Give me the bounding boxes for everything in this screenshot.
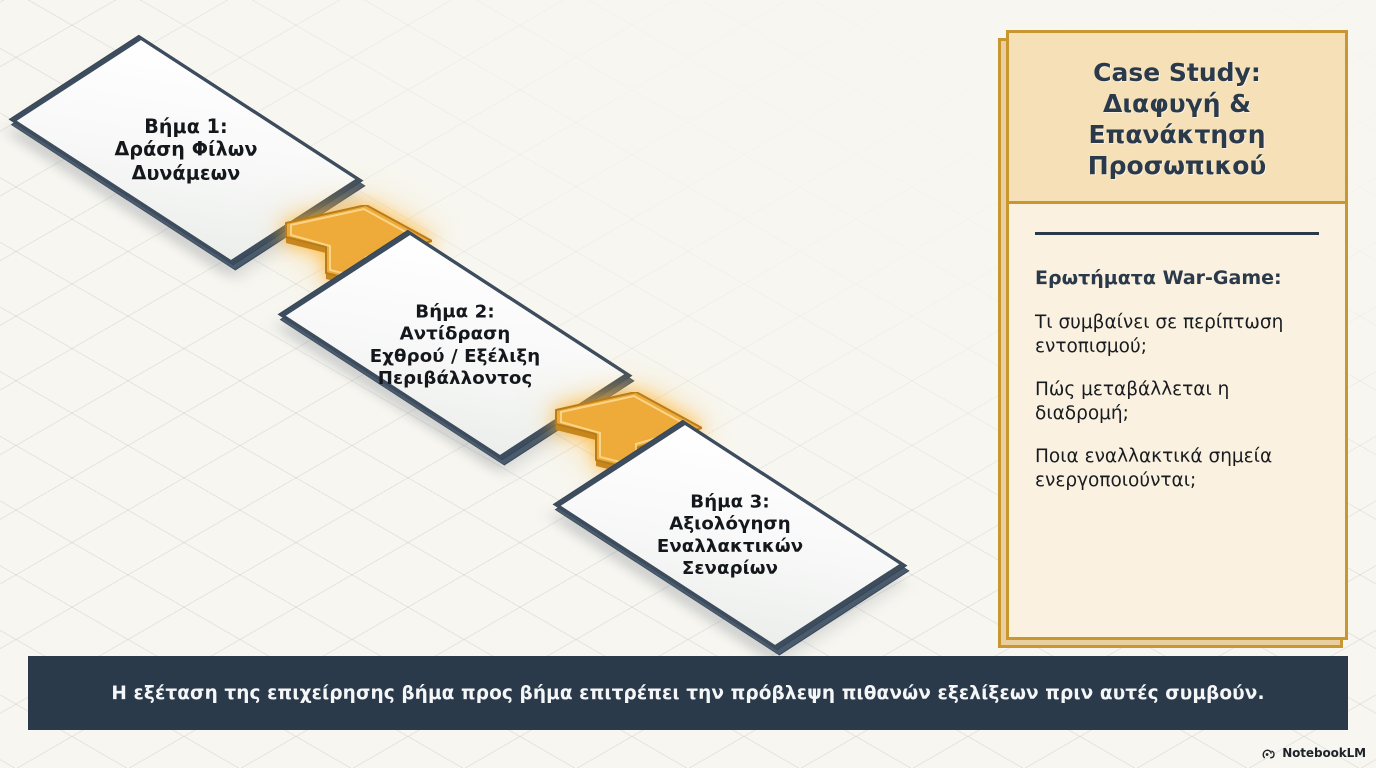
war-game-question-item: Τι συμβαίνει σε περίπτωση εντοπισμού; (1035, 311, 1319, 360)
war-game-question-item: Ποια εναλλακτικά σημεία ενεργοποιούνται; (1035, 445, 1319, 494)
bottom-summary-text: Η εξέταση της επιχείρησης βήμα προς βήμα… (111, 683, 1264, 704)
notebooklm-icon (1262, 746, 1277, 760)
case-study-card-body: Ερωτήματα War-Game: Τι συμβαίνει σε περί… (1009, 204, 1345, 637)
bottom-summary-banner: Η εξέταση της επιχείρησης βήμα προς βήμα… (28, 656, 1348, 730)
case-study-card-header: Case Study: Διαφυγή & Επανάκτηση Προσωπι… (1009, 33, 1345, 204)
case-study-card: Case Study: Διαφυγή & Επανάκτηση Προσωπι… (1006, 30, 1348, 640)
notebooklm-watermark: NotebookLM (1262, 746, 1366, 760)
war-game-questions-heading: Ερωτήματα War-Game: (1035, 267, 1319, 289)
case-study-title: Case Study: Διαφυγή & Επανάκτηση Προσωπι… (1027, 57, 1327, 181)
notebooklm-watermark-label: NotebookLM (1282, 746, 1366, 760)
war-game-question-item: Πώς μεταβάλλεται η διαδρομή; (1035, 378, 1319, 427)
section-divider (1035, 232, 1319, 235)
slide-canvas: Βήμα 1: Δράση Φίλων Δυνάμεων Βήμα 2: Αντ… (0, 0, 1376, 768)
